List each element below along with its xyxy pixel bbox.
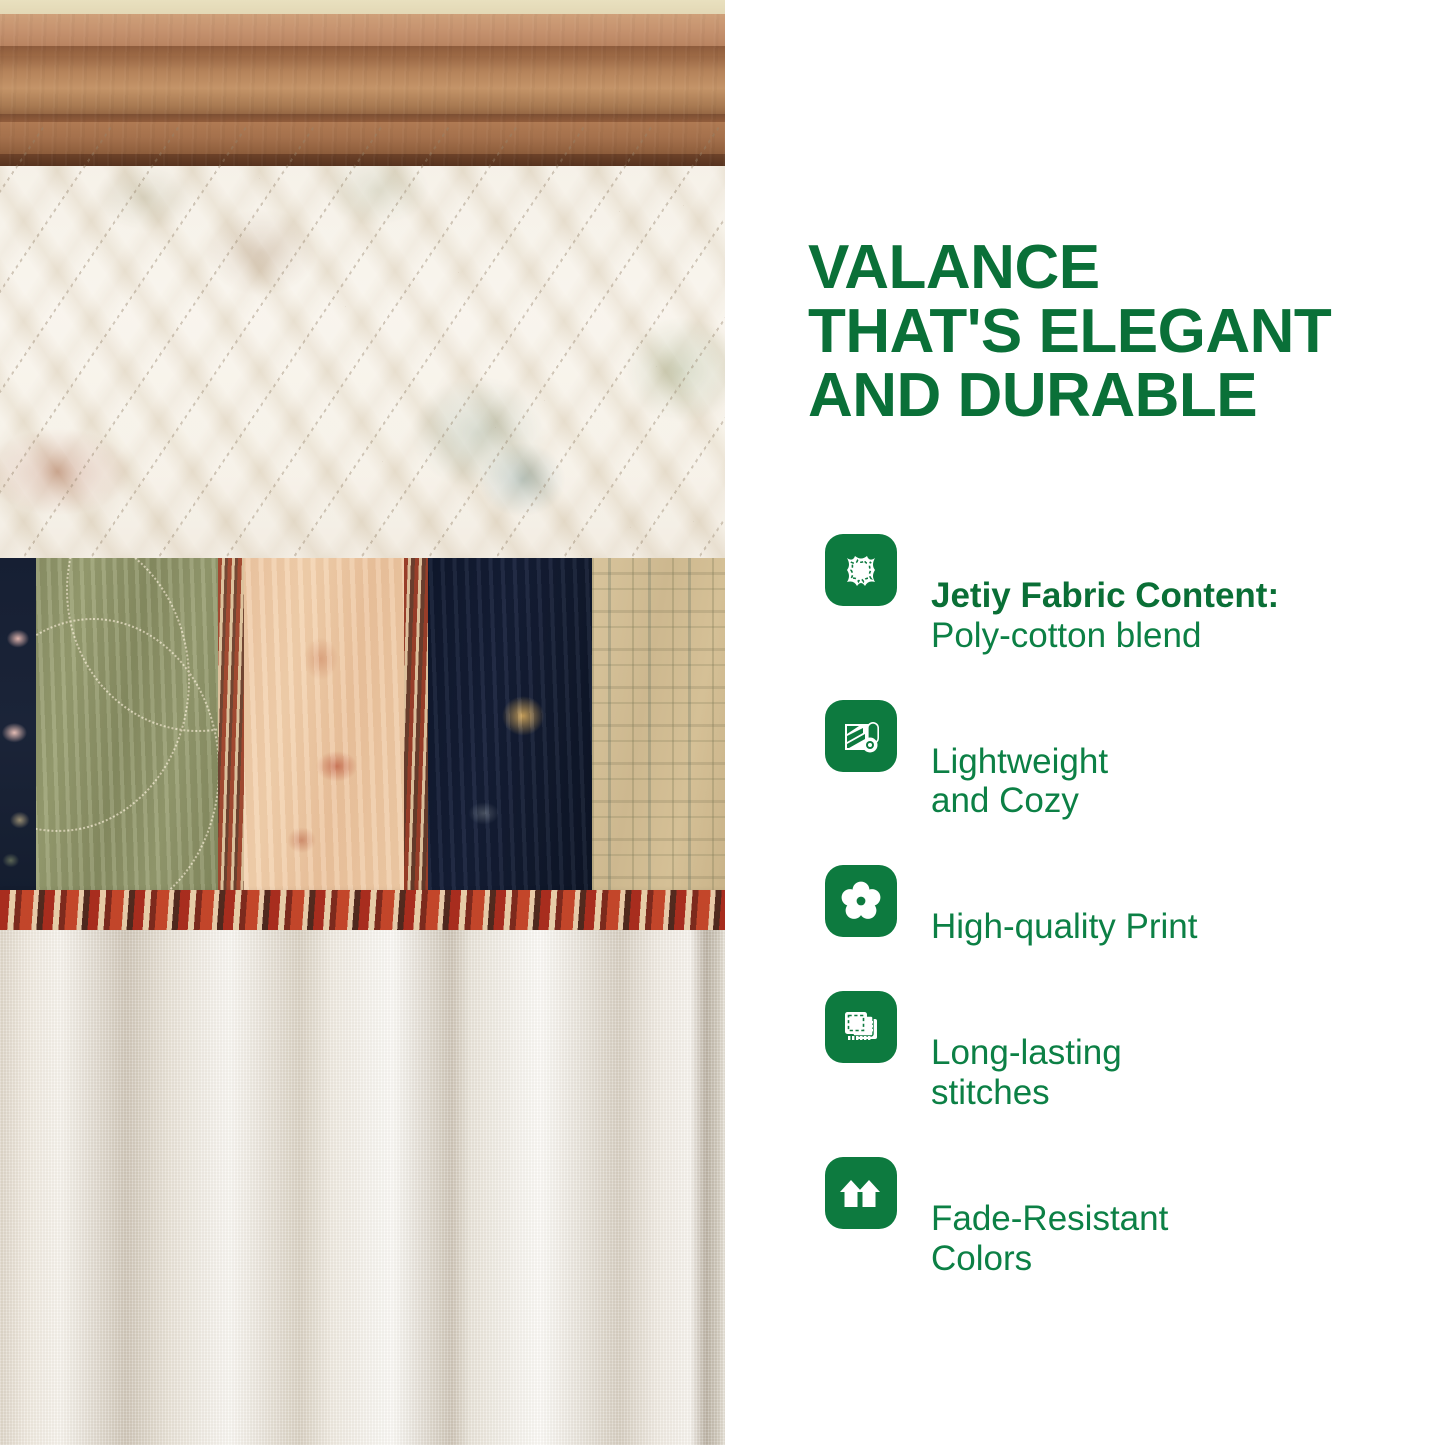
double-up-arrow-icon — [837, 1169, 885, 1217]
quilt-arc — [66, 558, 218, 732]
feature-label-rest: Lightweight and Cozy — [931, 742, 1108, 821]
patch-navy-floral — [0, 558, 36, 894]
feature-item: Fade-Resistant Colors — [825, 1157, 1405, 1279]
feature-label-bold: Jetiy Fabric Content: — [931, 576, 1279, 615]
patch-peach-floral — [244, 558, 404, 894]
product-photo — [0, 0, 725, 1445]
page-title: VALANCE THAT'S ELEGANT AND DURABLE — [808, 236, 1408, 428]
quilt-arc — [36, 618, 218, 894]
molding-band-top — [0, 14, 725, 46]
feature-label: Fade-Resistant Colors — [931, 1157, 1168, 1279]
infographic-page: VALANCE THAT'S ELEGANT AND DURABLE Jetiy… — [0, 0, 1445, 1445]
patch-navy-maple-leaf — [428, 558, 592, 894]
feature-label-rest: Long-lasting stitches — [931, 1033, 1122, 1112]
patch-tan-plaid — [592, 558, 725, 894]
feature-item: Lightweight and Cozy — [825, 700, 1405, 822]
feature-item: High-quality Print — [825, 865, 1405, 947]
icon-badge — [825, 700, 897, 772]
patch-sashing-rust-b — [404, 558, 428, 894]
feature-item: Jetiy Fabric Content: Poly-cotton blend — [825, 534, 1405, 656]
feature-panel: VALANCE THAT'S ELEGANT AND DURABLE Jetiy… — [725, 0, 1445, 1445]
flower-icon — [837, 877, 885, 925]
cream-quilted-valance — [0, 166, 725, 558]
feature-label: Jetiy Fabric Content: Poly-cotton blend — [931, 534, 1279, 656]
linen-weave-texture — [0, 930, 725, 1445]
feature-label-rest: Fade-Resistant Colors — [931, 1199, 1168, 1278]
icon-badge — [825, 865, 897, 937]
icon-badge — [825, 1157, 897, 1229]
patchwork-strip — [0, 558, 725, 894]
leather-hide-icon — [837, 546, 885, 594]
fabric-roll-icon — [837, 712, 885, 760]
patch-olive-green — [36, 558, 218, 894]
molding-band-main — [0, 56, 725, 118]
icon-badge — [825, 534, 897, 606]
rust-floral-binding — [0, 890, 725, 934]
quilt-arc — [36, 558, 190, 832]
stitched-layers-icon — [837, 1003, 885, 1051]
feature-list: Jetiy Fabric Content: Poly-cotton blend — [825, 534, 1405, 1278]
white-linen-curtain — [0, 930, 725, 1445]
patch-sashing-rust-a — [218, 558, 244, 894]
feature-label: Long-lasting stitches — [931, 991, 1122, 1113]
feature-label-rest: Poly-cotton blend — [931, 616, 1201, 655]
feature-label: High-quality Print — [931, 865, 1198, 947]
diamond-quilting-stitches — [0, 126, 725, 606]
feature-label-rest: High-quality Print — [931, 907, 1198, 946]
feature-label: Lightweight and Cozy — [931, 700, 1108, 822]
icon-badge — [825, 991, 897, 1063]
feature-item: Long-lasting stitches — [825, 991, 1405, 1113]
